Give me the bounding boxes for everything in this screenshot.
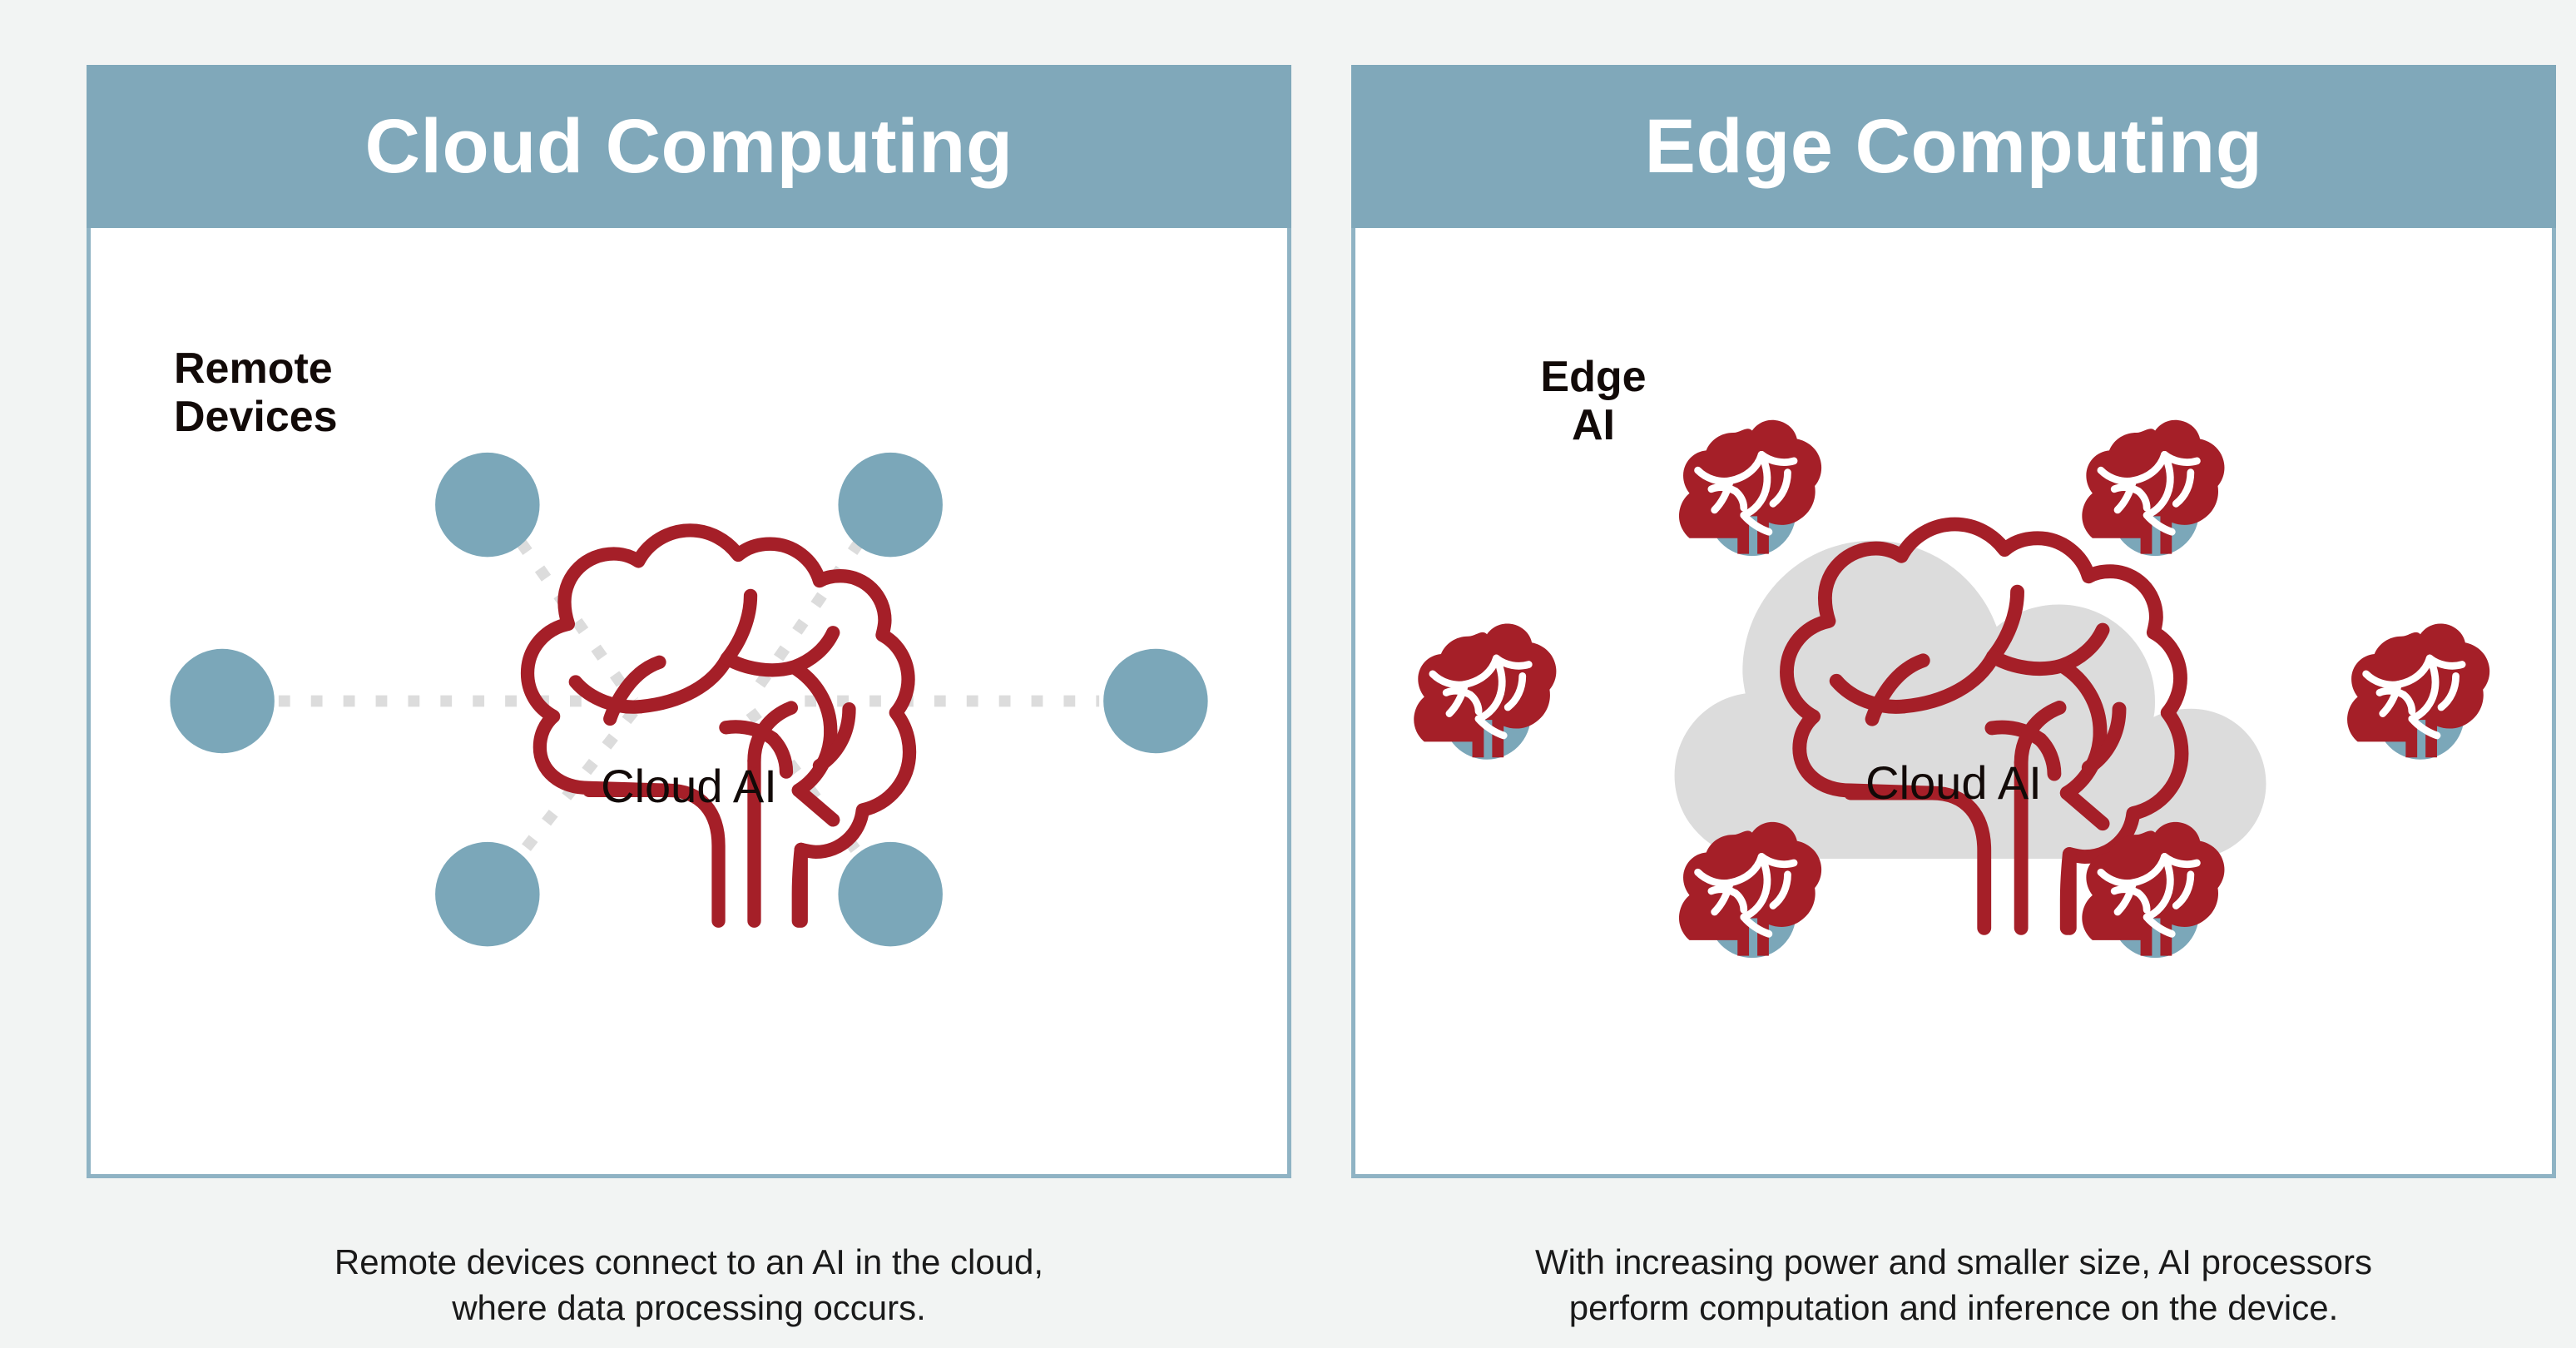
remote-device-node-top-right[interactable]	[838, 453, 942, 557]
diagram-canvas: Cloud Computing	[0, 0, 2576, 1348]
remote-device-node-bottom-right[interactable]	[838, 842, 942, 946]
panel-header-cloud-computing: Cloud Computing	[87, 65, 1291, 228]
edge-ai-node-top-left[interactable]	[1679, 420, 1821, 556]
edge-ai-node-middle-right[interactable]	[2347, 623, 2489, 759]
edge-ai-node-bottom-left[interactable]	[1679, 822, 1821, 958]
caption-cloud-computing: Remote devices connect to an AI in the c…	[87, 1240, 1291, 1331]
panel-header-edge-computing: Edge Computing	[1351, 65, 2556, 228]
panel-body-edge-computing: Edge AI Cloud AI	[1351, 228, 2556, 1178]
panel-cloud-computing: Cloud Computing	[87, 65, 1291, 1178]
panel-title-cloud-computing: Cloud Computing	[364, 108, 1013, 185]
edge-ai-node-top-right[interactable]	[2082, 420, 2224, 556]
panel-body-cloud-computing: Remote Devices Cloud AI	[87, 228, 1291, 1178]
edge-ai-node-middle-left[interactable]	[1414, 623, 1556, 759]
remote-device-node-middle-left[interactable]	[170, 649, 274, 753]
remote-device-node-bottom-left[interactable]	[435, 842, 539, 946]
panel-title-edge-computing: Edge Computing	[1645, 108, 2263, 185]
caption-edge-computing: With increasing power and smaller size, …	[1351, 1240, 2556, 1331]
remote-device-node-top-left[interactable]	[435, 453, 539, 557]
remote-device-node-middle-right[interactable]	[1103, 649, 1207, 753]
panel-edge-computing: Edge Computing	[1351, 65, 2556, 1178]
edge-computing-illustration	[1355, 228, 2552, 1174]
cloud-computing-illustration	[91, 228, 1287, 1174]
